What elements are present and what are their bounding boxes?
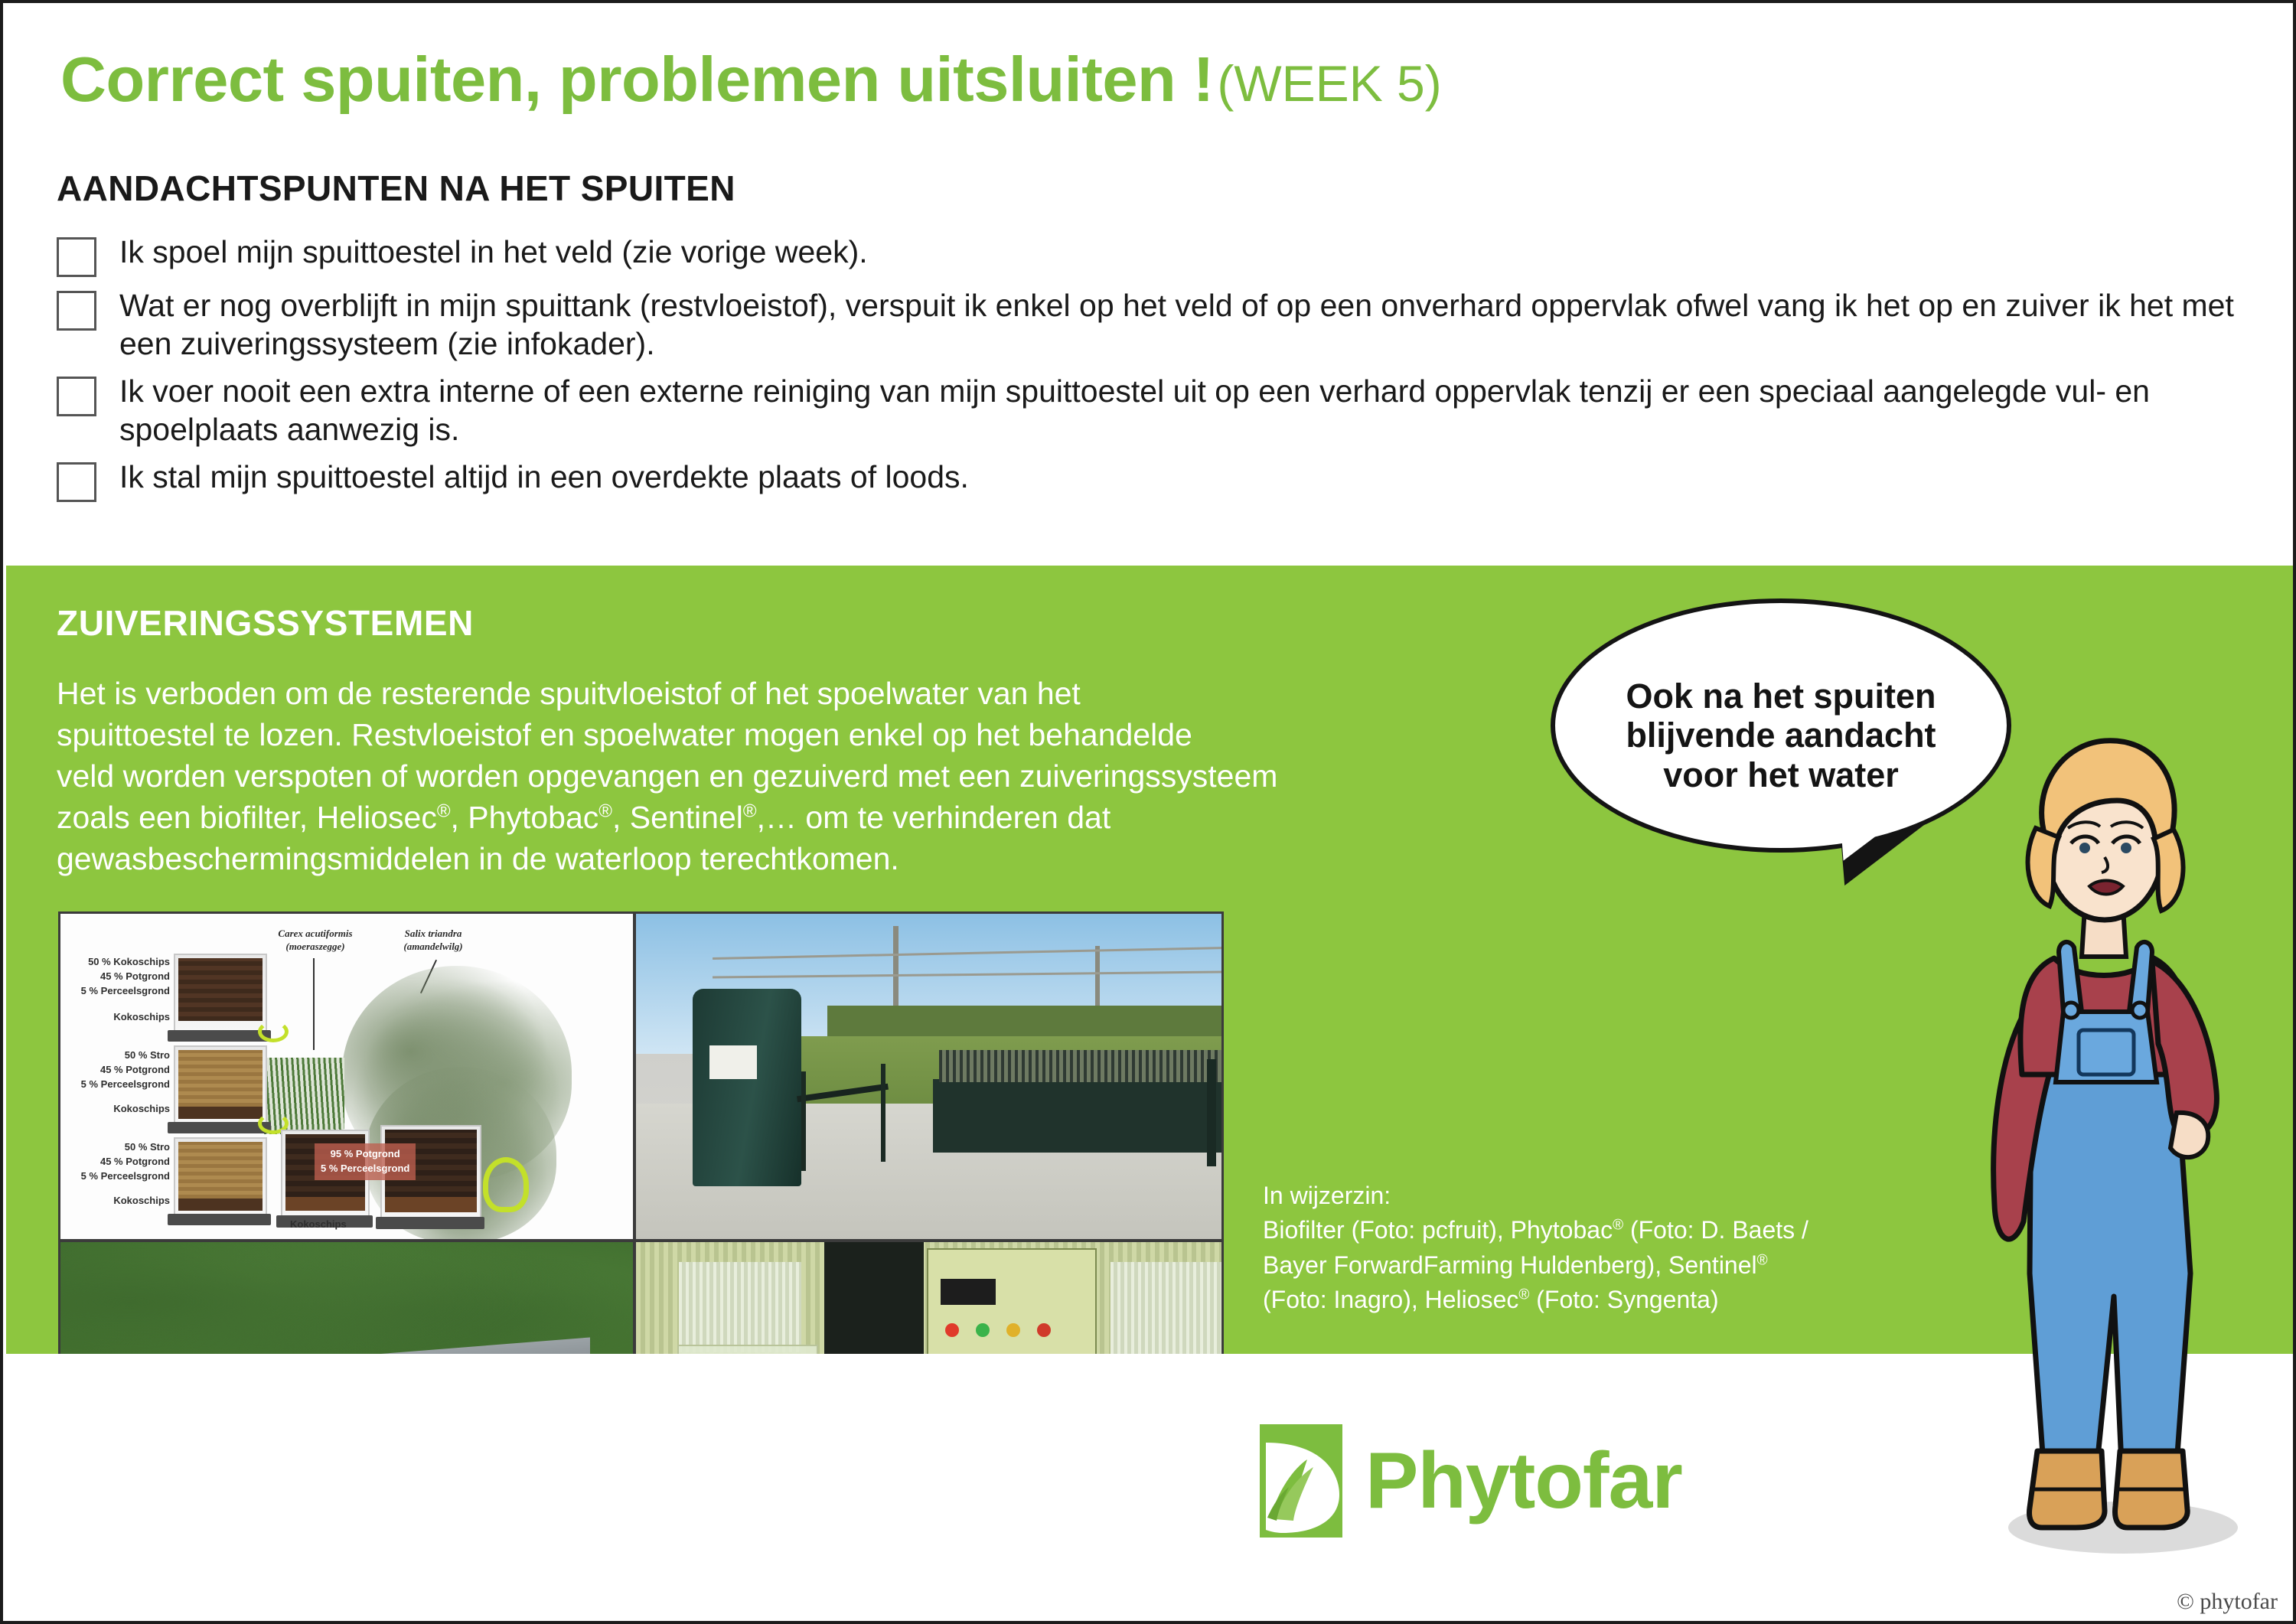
checkbox-2[interactable] xyxy=(57,291,96,331)
checklist-item-label: Wat er nog overblijft in mijn spuittank … xyxy=(119,286,2239,363)
green-body-line-2: spuittoestel te lozen. Restvloeistof en … xyxy=(57,717,1192,752)
page-title-week: (WEEK 5) xyxy=(1217,55,1441,112)
support-post xyxy=(1207,1059,1216,1166)
biofilter-leader-line xyxy=(313,958,315,1050)
phytobac-tank xyxy=(693,989,801,1186)
speech-line-3: voor het water xyxy=(1663,755,1899,794)
green-body-line-4c: , Sentinel xyxy=(612,800,743,835)
indicator-light-amber xyxy=(1006,1323,1020,1337)
checklist-item-label: Ik spoel mijn spuittoestel in het veld (… xyxy=(119,233,868,271)
green-body-line-4a: zoals een biofilter, Heliosec xyxy=(57,800,437,835)
green-panel-body: Het is verboden om de resterende spuitvl… xyxy=(57,673,1442,880)
photo-biofilter[interactable]: Carex acutiformis (moeraszegge) Salix tr… xyxy=(60,914,633,1239)
registered-mark-icon: ® xyxy=(1613,1218,1623,1234)
ibc-container xyxy=(174,954,267,1033)
green-body-line-4b: , Phytobac xyxy=(451,800,599,835)
registered-mark-icon: ® xyxy=(743,801,757,822)
photo-credits-heading: In wijzerzin: xyxy=(1263,1179,1808,1213)
phytofar-leaf-icon xyxy=(1260,1424,1342,1538)
biofilter-bottom-label: Kokoschips xyxy=(290,1218,347,1230)
phytobac-rack xyxy=(939,1050,1224,1082)
ibc-pallet xyxy=(168,1214,271,1225)
ibc-pallet xyxy=(376,1217,484,1229)
photo-credits: In wijzerzin: Biofilter (Foto: pcfruit),… xyxy=(1263,1179,1808,1318)
biofilter-plant-label-carex: Carex acutiformis (moeraszegge) xyxy=(250,928,380,954)
checkbox-1[interactable] xyxy=(57,237,96,277)
photo-phytobac[interactable] xyxy=(636,914,1224,1239)
biofilter-label-stack2-base: Kokoschips xyxy=(67,1102,170,1117)
biofilter-label-stack1-base: Kokoschips xyxy=(67,1010,170,1025)
biofilter-label-stack2: 50 % Stro 45 % Potgrond 5 % Perceelsgron… xyxy=(67,1048,170,1092)
checklist: Ik spoel mijn spuittoestel in het veld (… xyxy=(57,233,2253,511)
speech-bubble: Ook na het spuiten blijvende aandacht vo… xyxy=(1551,598,2011,853)
ibc-pallet xyxy=(168,1122,271,1133)
green-body-line-4d: ,… om te verhinderen dat xyxy=(757,800,1111,835)
shed-window xyxy=(679,1262,801,1352)
indicator-light-red xyxy=(1037,1323,1051,1337)
ibc-container xyxy=(174,1137,267,1217)
checklist-row[interactable]: Ik stal mijn spuittoestel altijd in een … xyxy=(57,458,2253,502)
photo-credits-line-3: (Foto: Inagro), Heliosec® (Foto: Syngent… xyxy=(1263,1283,1808,1317)
biofilter-plant-label-salix: Salix triandra (amandelwilg) xyxy=(376,928,491,954)
support-leg xyxy=(801,1071,806,1171)
shed-window xyxy=(1110,1262,1224,1354)
registered-mark-icon: ® xyxy=(437,801,451,822)
speech-bubble-text: Ook na het spuiten blijvende aandacht vo… xyxy=(1555,677,2007,794)
copyright-notice: © phytofar xyxy=(2177,1589,2278,1615)
speech-line-2: blijvende aandacht xyxy=(1626,716,1936,755)
display-readout xyxy=(941,1279,996,1305)
green-body-line-3: veld worden verspoten of worden opgevang… xyxy=(57,758,1277,794)
poster-page: Correct spuiten, problemen uitsluiten ! … xyxy=(0,0,2296,1624)
checkbox-4[interactable] xyxy=(57,462,96,502)
registered-mark-icon: ® xyxy=(1757,1252,1768,1268)
green-panel-title: ZUIVERINGSSYSTEMEN xyxy=(57,602,474,644)
hose-connector-icon xyxy=(258,1021,289,1042)
biofilter-mix-callout: 95 % Potgrond 5 % Perceelsgrond xyxy=(315,1143,416,1180)
section-subheading: AANDACHTSPUNTEN NA HET SPUITEN xyxy=(57,168,735,209)
top-section: Correct spuiten, problemen uitsluiten ! … xyxy=(3,3,2296,566)
photo-credits-line-2: Bayer ForwardFarming Huldenberg), Sentin… xyxy=(1263,1248,1808,1283)
biofilter-label-stack3: 50 % Stro 45 % Potgrond 5 % Perceelsgron… xyxy=(67,1140,170,1184)
phytofar-logo[interactable]: Phytofar xyxy=(1260,1424,1682,1538)
checklist-item-label: Ik stal mijn spuittoestel altijd in een … xyxy=(119,458,969,496)
ibc-container xyxy=(174,1045,267,1125)
checkbox-3[interactable] xyxy=(57,377,96,416)
page-title: Correct spuiten, problemen uitsluiten ! … xyxy=(60,47,1442,111)
photo-credits-line-1: Biofilter (Foto: pcfruit), Phytobac® (Fo… xyxy=(1263,1213,1808,1247)
page-title-main: Correct spuiten, problemen uitsluiten ! xyxy=(60,44,1214,115)
green-body-line-5: gewasbeschermingsmiddelen in de waterloo… xyxy=(57,841,899,876)
indicator-light-red xyxy=(945,1323,959,1337)
biofilter-label-stack3-base: Kokoschips xyxy=(67,1194,170,1208)
checklist-row[interactable]: Ik voer nooit een extra interne of een e… xyxy=(57,372,2253,448)
farmer-character-illustration xyxy=(1947,715,2268,1564)
ibc-pallet xyxy=(168,1030,271,1042)
support-leg xyxy=(881,1064,885,1162)
speech-line-1: Ook na het spuiten xyxy=(1626,677,1936,716)
indicator-light-green xyxy=(976,1323,990,1337)
phytofar-wordmark: Phytofar xyxy=(1365,1441,1682,1521)
checklist-row[interactable]: Wat er nog overblijft in mijn spuittank … xyxy=(57,286,2253,363)
registered-mark-icon: ® xyxy=(1518,1287,1529,1303)
checklist-item-label: Ik voer nooit een extra interne of een e… xyxy=(119,372,2239,448)
hose-loop-icon xyxy=(483,1157,529,1212)
green-body-line-1: Het is verboden om de resterende spuitvl… xyxy=(57,676,1081,711)
tank-label xyxy=(709,1045,757,1079)
biofilter-label-stack1: 50 % Kokoschips 45 % Potgrond 5 % Percee… xyxy=(67,955,170,999)
checklist-row[interactable]: Ik spoel mijn spuittoestel in het veld (… xyxy=(57,233,2253,277)
registered-mark-icon: ® xyxy=(598,801,612,822)
dark-doorway xyxy=(824,1242,924,1357)
phytobac-bed xyxy=(933,1079,1224,1153)
